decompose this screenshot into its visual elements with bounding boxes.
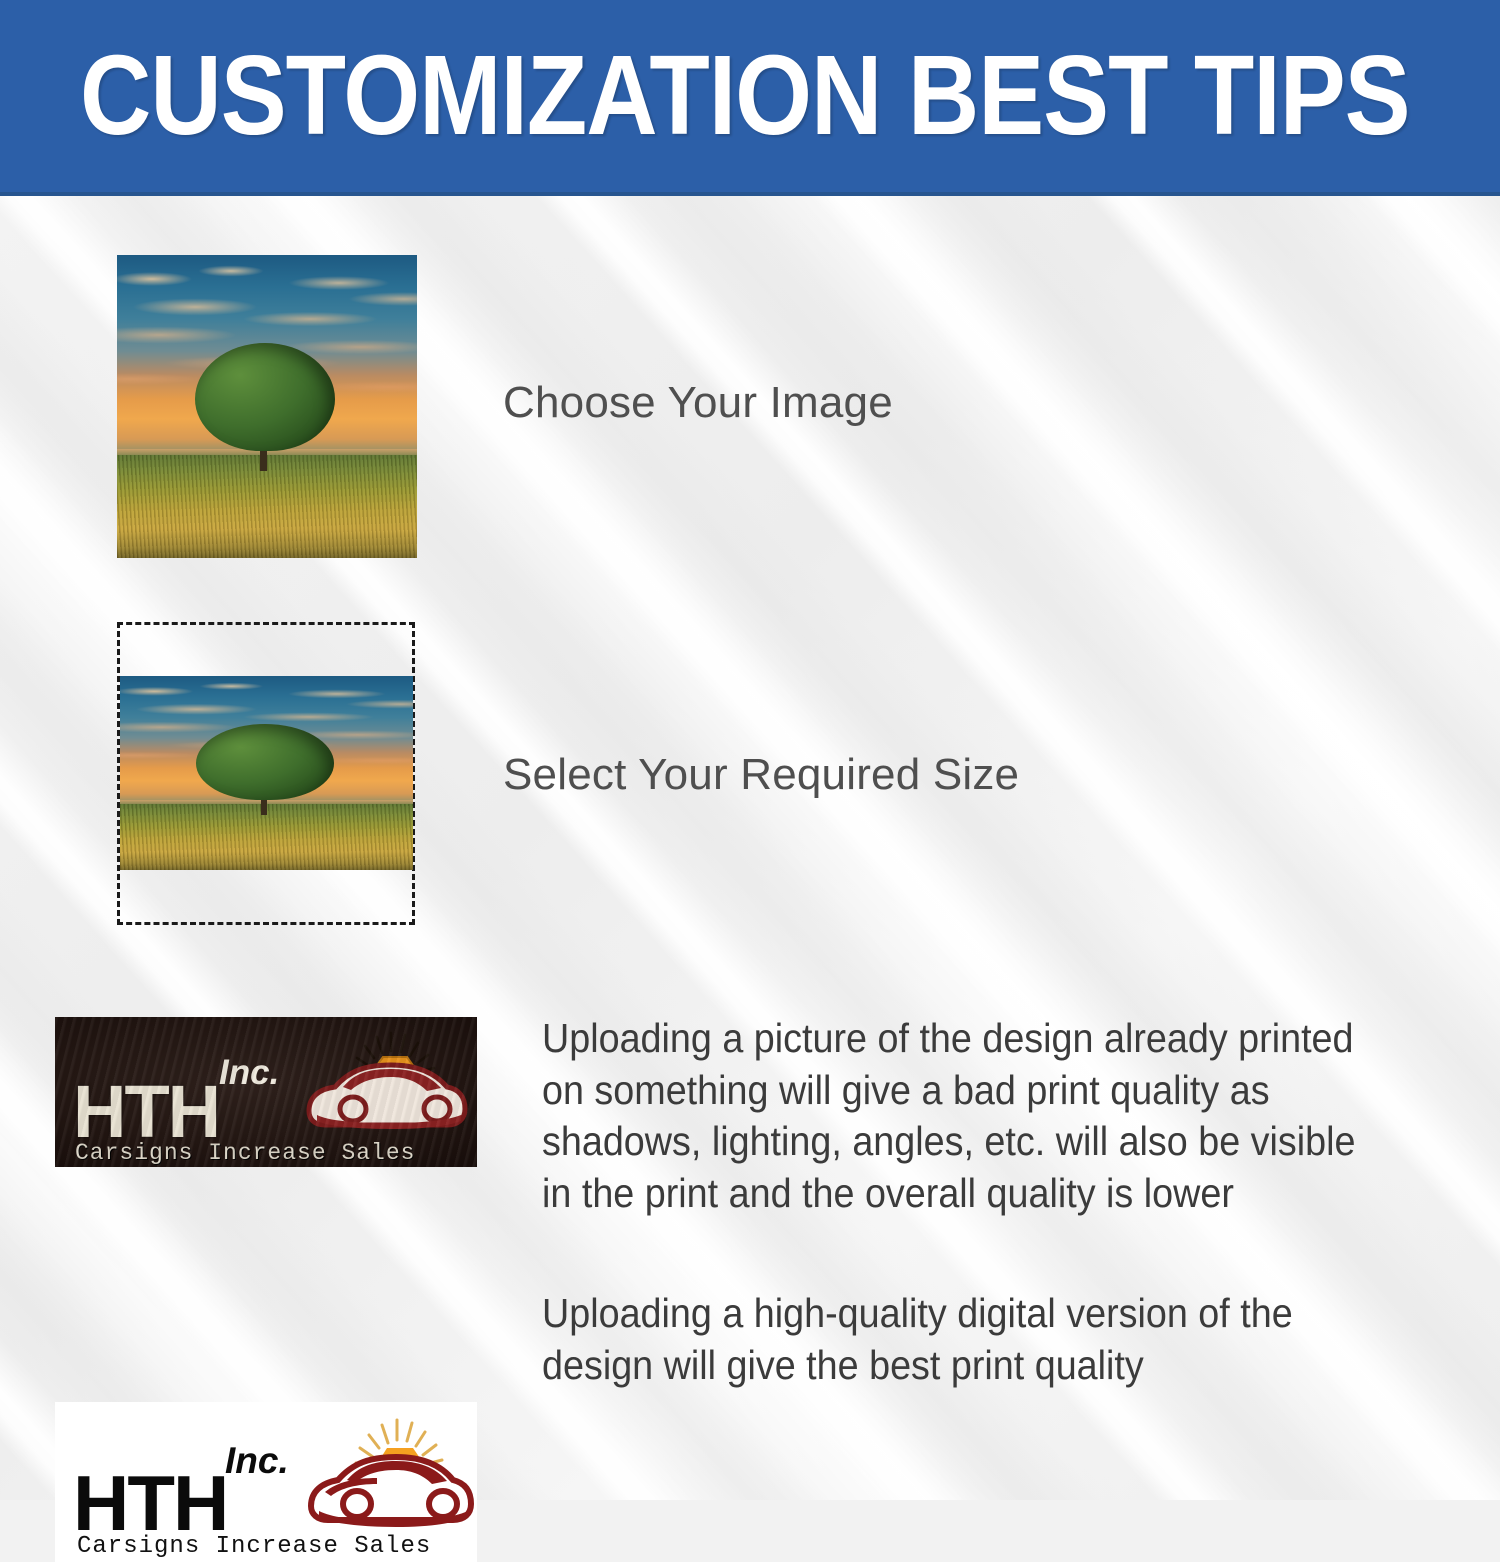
car-rear-wheel-photo xyxy=(424,1097,450,1121)
photo-wheat-field xyxy=(117,455,417,558)
hth-tagline-photo: Carsigns Increase Sales xyxy=(75,1140,415,1166)
hth-tagline-digital: Carsigns Increase Sales xyxy=(77,1533,431,1560)
car-front-wheel-photo xyxy=(340,1097,366,1121)
header-banner: CUSTOMIZATION BEST TIPS xyxy=(0,0,1500,196)
car-icon-photo xyxy=(295,1027,470,1137)
step-label-select-size: Select Your Required Size xyxy=(503,750,1019,800)
photo-tree-canopy xyxy=(195,343,335,451)
car-front-wheel-digital xyxy=(343,1491,371,1517)
tip-text-bad-quality: Uploading a picture of the design alread… xyxy=(542,1013,1490,1220)
page-title: CUSTOMIZATION BEST TIPS xyxy=(80,31,1410,161)
photo-tree-canopy xyxy=(196,724,334,800)
car-icon-digital xyxy=(297,1416,475,1534)
step-label-choose-image: Choose Your Image xyxy=(503,378,893,428)
car-rear-wheel-digital xyxy=(429,1491,457,1517)
hth-logo-photo-banner: HTH Inc. Carsigns Increase Sales xyxy=(55,1017,477,1167)
step-media-select-size xyxy=(120,676,413,870)
tree-sunset-photo-square xyxy=(117,255,417,558)
hth-logo-digital-artwork: HTH Inc. Carsigns Increase Sales xyxy=(55,1402,477,1562)
hth-wordmark-photo: HTH xyxy=(73,1075,219,1149)
tree-sunset-photo-cropped xyxy=(120,676,413,870)
tip-text-best-quality: Uploading a high-quality digital version… xyxy=(542,1288,1462,1391)
hth-wordmark-digital: HTH xyxy=(73,1464,227,1542)
hth-inc-suffix-digital: Inc. xyxy=(225,1442,289,1479)
hth-inc-suffix-photo: Inc. xyxy=(219,1055,279,1090)
step-media-choose-image xyxy=(117,255,417,558)
